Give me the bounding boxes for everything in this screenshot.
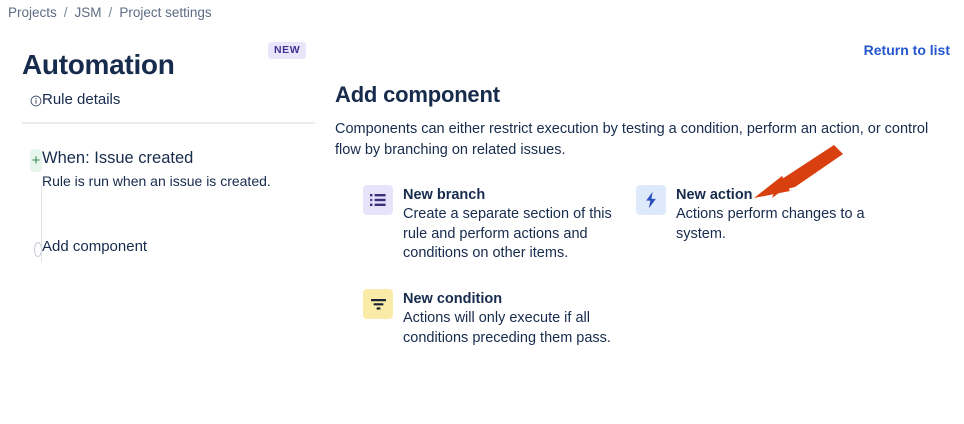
filter-icon — [363, 289, 393, 319]
breadcrumb-separator: / — [64, 5, 68, 20]
component-title: New branch — [403, 186, 618, 204]
breadcrumb-item-project-settings[interactable]: Project settings — [119, 5, 211, 20]
rail-item-add-component[interactable]: Add component — [0, 238, 320, 257]
trigger-description: Rule is run when an issue is created. — [42, 172, 271, 190]
component-option-new-action[interactable]: New action Actions perform changes to a … — [636, 185, 926, 244]
component-title: New action — [676, 186, 891, 204]
rail-icon-column — [0, 90, 42, 109]
rail-item-rule-details[interactable]: Rule details — [0, 90, 320, 122]
rail-icon-column — [0, 238, 42, 257]
component-text-block: New action Actions perform changes to a … — [676, 185, 891, 244]
page-header: Automation NEW Return to list — [0, 30, 964, 74]
trigger-title: When: Issue created — [42, 148, 271, 169]
status-badge-new: NEW — [268, 42, 306, 59]
rail-item-label-rule-details: Rule details — [42, 90, 120, 110]
breadcrumb: Projects / JSM / Project settings — [8, 5, 212, 20]
lightning-bolt-icon — [636, 185, 666, 215]
component-description: Actions perform changes to a system. — [676, 205, 891, 244]
rule-rail: Rule details + When: Issue created Rule … — [0, 90, 320, 257]
breadcrumb-separator: / — [109, 5, 113, 20]
info-icon — [30, 93, 42, 109]
panel-description: Components can either restrict execution… — [335, 119, 940, 161]
filter-icon-glyph — [370, 297, 387, 311]
breadcrumb-item-jsm[interactable]: JSM — [75, 5, 102, 20]
page-title: Automation — [22, 49, 175, 81]
component-option-new-condition[interactable]: New condition Actions will only execute … — [363, 289, 653, 348]
list-icon-glyph — [370, 193, 386, 207]
panel-title: Add component — [335, 82, 950, 108]
component-description: Create a separate section of this rule a… — [403, 205, 618, 264]
breadcrumb-item-projects[interactable]: Projects — [8, 5, 57, 20]
rail-icon-column: + — [0, 148, 42, 172]
add-component-panel: Add component Components can either rest… — [335, 82, 950, 185]
lightning-bolt-icon-glyph — [644, 191, 658, 209]
rail-item-label-add-component: Add component — [42, 238, 147, 255]
component-option-new-branch[interactable]: New branch Create a separate section of … — [363, 185, 653, 264]
component-text-block: New condition Actions will only execute … — [403, 289, 618, 348]
component-title: New condition — [403, 290, 618, 308]
component-description: Actions will only execute if all conditi… — [403, 309, 618, 348]
component-text-block: New branch Create a separate section of … — [403, 185, 618, 264]
rail-item-trigger[interactable]: + When: Issue created Rule is run when a… — [0, 148, 320, 190]
trigger-text-block: When: Issue created Rule is run when an … — [42, 148, 271, 190]
plus-icon: + — [30, 149, 42, 172]
rail-divider — [22, 122, 315, 124]
return-to-list-link[interactable]: Return to list — [864, 42, 950, 58]
list-icon — [363, 185, 393, 215]
rail-connector-line — [41, 186, 42, 262]
